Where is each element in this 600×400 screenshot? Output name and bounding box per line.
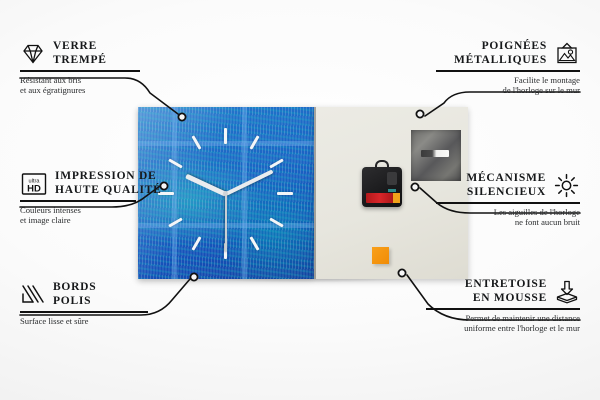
callout-subtitle: Les aiguilles de l'horloge ne font aucun… xyxy=(420,207,580,228)
callout-bords-polis: BORDS POLIS Surface lisse et sûre xyxy=(20,281,170,326)
callout-title: POIGNÉES MÉTALLIQUES xyxy=(454,40,547,67)
callout-title: BORDS POLIS xyxy=(53,281,96,308)
callout-title: ENTRETOISE EN MOUSSE xyxy=(465,278,547,305)
callout-title: VERRE TREMPÉ xyxy=(53,40,107,67)
clock-tick xyxy=(191,236,201,250)
clock-tick xyxy=(269,158,283,168)
polished-edges-icon xyxy=(20,282,46,308)
callout-rule xyxy=(20,70,140,72)
product-image xyxy=(138,107,468,279)
callout-rule xyxy=(436,202,580,204)
callout-mecanisme-silencieux: MÉCANISME SILENCIEUX Les aiguilles de l'… xyxy=(420,172,580,228)
svg-text:HD: HD xyxy=(27,183,41,194)
callout-subtitle: Permet de maintenir une distance uniform… xyxy=(410,313,580,334)
callout-rule xyxy=(426,308,580,310)
callout-impression-haute-qualite: ultra HD IMPRESSION DE HAUTE QUALITÉ Cou… xyxy=(20,170,180,226)
callout-rule xyxy=(436,70,580,72)
battery xyxy=(366,193,396,203)
gear-icon xyxy=(553,172,580,199)
callout-entretoise-en-mousse: ENTRETOISE EN MOUSSE Permet de maintenir… xyxy=(410,278,580,334)
movement-dial xyxy=(387,172,397,185)
callout-subtitle: Résistant aux bris et aux égratignures xyxy=(20,75,160,96)
battery-terminal xyxy=(393,193,400,203)
callout-poignees-metalliques: POIGNÉES MÉTALLIQUES Facilite le montage… xyxy=(420,40,580,96)
clock-tick xyxy=(224,128,227,144)
clock-movement xyxy=(362,167,402,207)
clock-hand-center xyxy=(223,191,228,196)
callout-title: IMPRESSION DE HAUTE QUALITÉ xyxy=(55,170,162,197)
infographic-canvas: VERRE TREMPÉ Résistant aux bris et aux é… xyxy=(0,0,600,400)
panel-seam xyxy=(314,107,316,279)
diamond-icon xyxy=(20,41,46,67)
callout-rule xyxy=(20,311,148,313)
hanging-picture-icon xyxy=(554,41,580,67)
callout-verre-trempe: VERRE TREMPÉ Résistant aux bris et aux é… xyxy=(20,40,160,96)
movement-hanging-loop xyxy=(375,160,389,170)
callout-title: MÉCANISME SILENCIEUX xyxy=(466,172,546,199)
ultra-hd-icon: ultra HD xyxy=(20,171,48,197)
callout-subtitle: Surface lisse et sûre xyxy=(20,316,170,327)
arrow-onto-pad-icon xyxy=(554,279,580,305)
clock-minute-hand xyxy=(225,169,273,195)
callout-rule xyxy=(20,200,136,202)
clock-second-hand xyxy=(225,194,227,252)
clock-tick xyxy=(277,192,293,195)
foam-spacer xyxy=(372,247,389,264)
callout-subtitle: Facilite le montage de l'horloge sur le … xyxy=(420,75,580,96)
hanger-slot xyxy=(421,150,449,157)
clock-tick xyxy=(249,236,259,250)
movement-marking xyxy=(388,189,396,192)
callout-subtitle: Couleurs intenses et image claire xyxy=(20,205,180,226)
clock-hour-hand xyxy=(185,174,227,197)
